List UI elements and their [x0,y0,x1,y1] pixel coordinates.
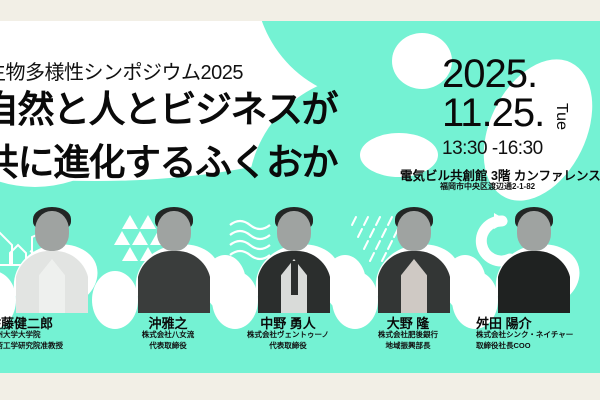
speaker-role: 地域振興部長 [348,340,468,351]
speaker-card: 中野 勇人 株式会社ヴェントゥーノ 代表取締役 [228,197,348,373]
portrait-body [498,251,570,313]
speaker-portrait [16,201,88,313]
speaker-portrait [258,201,330,313]
speaker-role: 代表取締役 [108,340,228,351]
letterbox-top [0,0,600,21]
portrait-head [397,211,431,251]
event-venue-address: 福岡市中央区渡辺通2-1-82 [440,181,535,192]
speaker-card: 佐藤健二郎 九州大学大学院 芸術工学研究院准教授 [0,197,106,373]
poster-banner: 生物多様性シンポジウム2025 自然と人とビジネスが 共に進化するふくおか 20… [0,0,600,400]
speaker-card: 沖雅之 株式会社八女流 代表取締役 [108,197,228,373]
portrait-body [138,251,210,313]
event-date-year: 2025. [442,55,544,94]
speaker-card: 舛田 陽介 株式会社シンク・ネイチャー 取締役社長COO [468,197,588,373]
portrait-head [517,211,551,251]
event-date-day-row: 11.25. Tue [442,94,544,133]
speaker-role: 取締役社長COO [468,340,588,351]
letterbox-bottom [0,373,600,400]
speaker-role: 代表取締役 [228,340,348,351]
portrait-head [277,211,311,251]
speaker-portrait [378,201,450,313]
event-date-block: 2025. 11.25. Tue 13:30 -16:30 [442,55,544,160]
event-time: 13:30 -16:30 [442,138,544,160]
speaker-card: 大野 隆 株式会社肥後銀行 地域振興部長 [348,197,468,373]
event-title-line-1: 自然と人とビジネスが [0,79,337,133]
event-day-of-week: Tue [552,103,570,130]
event-title-line-2: 共に進化するふくおか [0,132,337,186]
portrait-head [157,211,191,251]
speaker-portrait [498,201,570,313]
portrait-head [35,211,69,251]
event-date-monthday: 11.25. [442,91,544,135]
speaker-list: 佐藤健二郎 九州大学大学院 芸術工学研究院准教授 [0,197,600,373]
speaker-portrait [138,201,210,313]
speaker-role: 芸術工学研究院准教授 [0,340,106,351]
portrait-tie [291,261,298,295]
poster-stage: 生物多様性シンポジウム2025 自然と人とビジネスが 共に進化するふくおか 20… [0,21,600,373]
